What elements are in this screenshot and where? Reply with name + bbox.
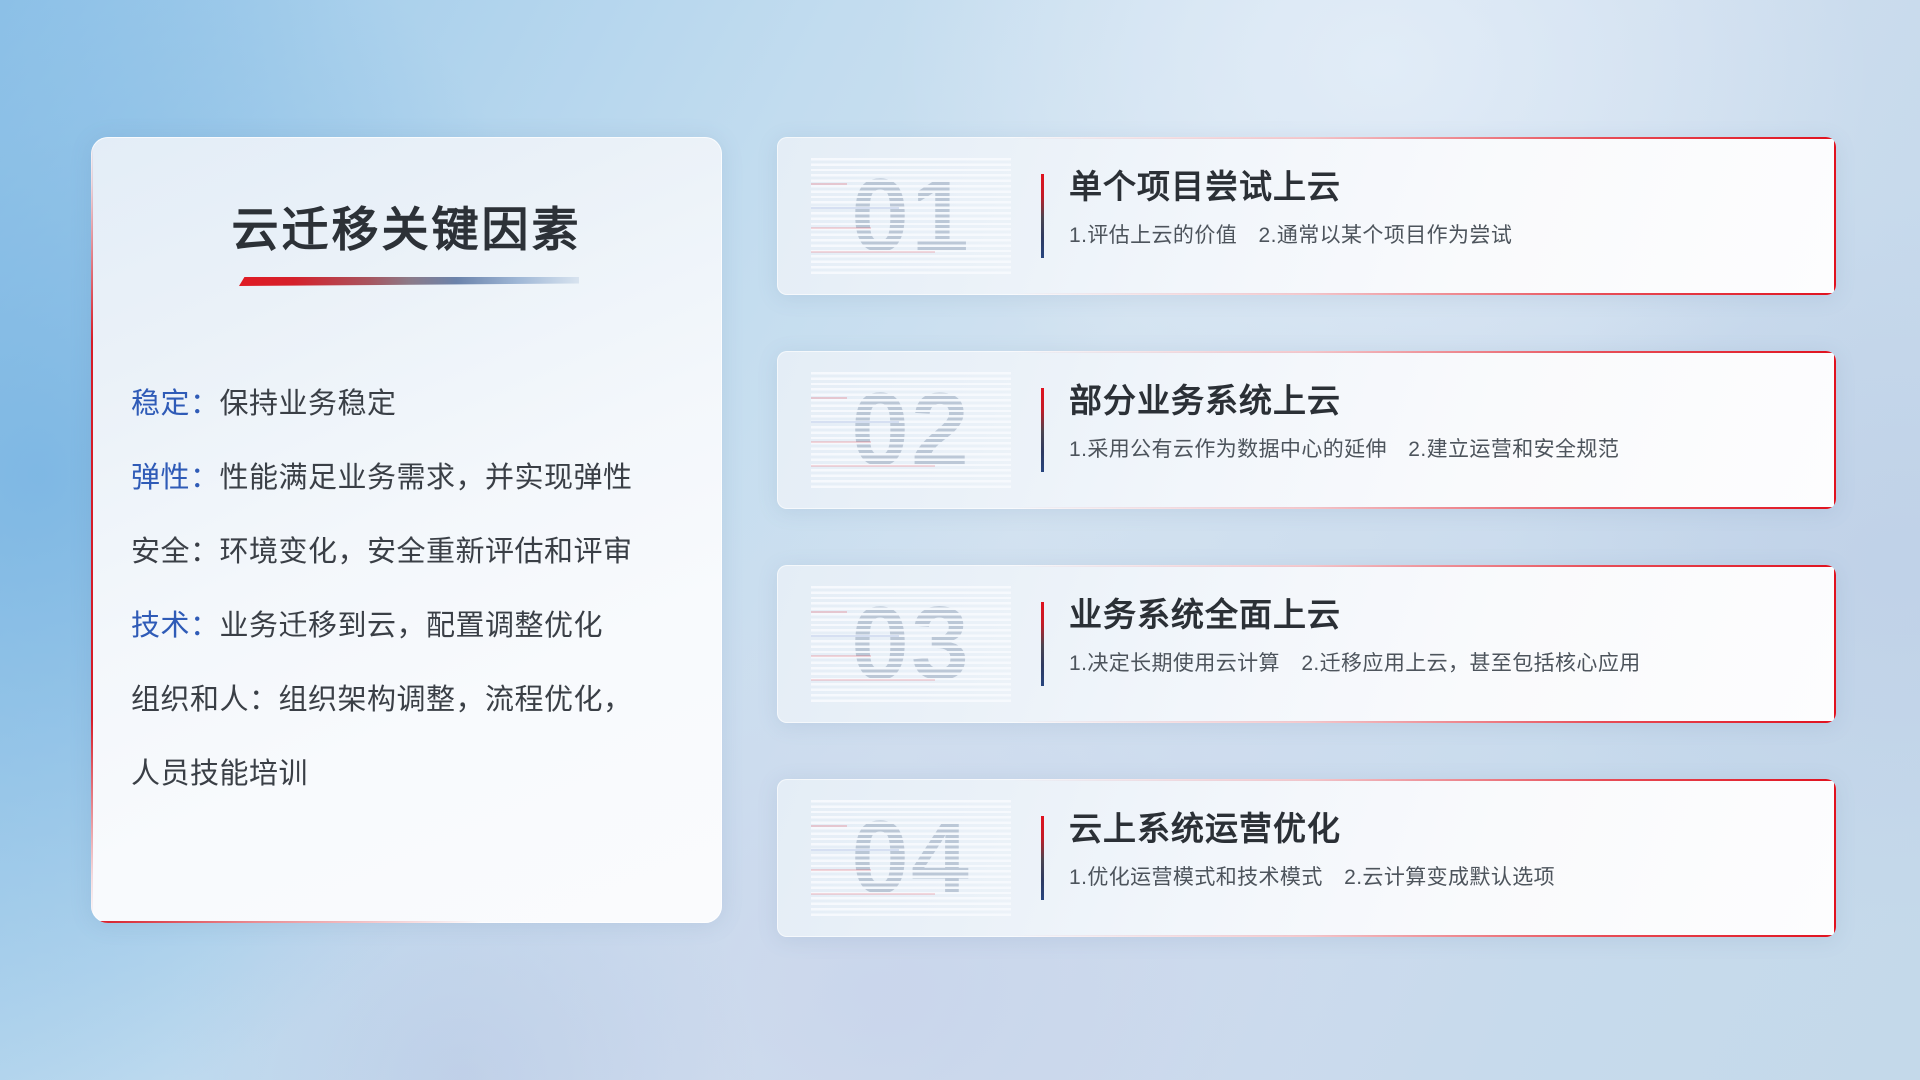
factor-text: 业务迁移到云，配置调整优化 bbox=[220, 610, 604, 642]
factor-label: 安全： bbox=[131, 536, 220, 568]
card-description: 1.采用公有云作为数据中心的延伸 2.建立运营和安全规范 bbox=[1069, 433, 1796, 467]
card-bottom-accent bbox=[777, 507, 1836, 509]
card-bottom-accent bbox=[777, 293, 1836, 295]
factor-row: 弹性：性能满足业务需求，并实现弹性 bbox=[131, 441, 700, 515]
factor-row: 稳定：保持业务稳定 bbox=[131, 367, 700, 441]
card-right-accent bbox=[1834, 565, 1836, 723]
card-bottom-accent bbox=[777, 721, 1836, 723]
card-description: 1.评估上云的价值 2.通常以某个项目作为尝试 bbox=[1069, 219, 1796, 253]
factor-row: 安全：环境变化，安全重新评估和评审 bbox=[131, 515, 700, 589]
step-number-watermark: 03 bbox=[811, 583, 1011, 705]
card-top-accent bbox=[777, 779, 1836, 781]
factor-text: 环境变化，安全重新评估和评审 bbox=[220, 536, 633, 568]
card-divider-bar bbox=[1041, 602, 1044, 686]
card-right-accent bbox=[1834, 779, 1836, 937]
factor-text: 性能满足业务需求，并实现弹性 bbox=[220, 462, 633, 494]
card-body: 单个项目尝试上云1.评估上云的价值 2.通常以某个项目作为尝试 bbox=[1069, 163, 1796, 253]
card-right-accent bbox=[1834, 137, 1836, 295]
card-top-accent bbox=[777, 351, 1836, 353]
page-title: 云迁移关键因素 bbox=[91, 191, 722, 260]
card-right-accent bbox=[1834, 351, 1836, 509]
factor-label: 稳定： bbox=[131, 388, 220, 420]
card-divider-bar bbox=[1041, 174, 1044, 258]
card-title: 云上系统运营优化 bbox=[1069, 805, 1796, 853]
factor-text: 人员技能培训 bbox=[131, 758, 308, 790]
factor-row: 技术：业务迁移到云，配置调整优化 bbox=[131, 589, 700, 663]
card-body: 业务系统全面上云1.决定长期使用云计算 2.迁移应用上云，甚至包括核心应用 bbox=[1069, 591, 1796, 681]
panel-bottom-accent-bar bbox=[91, 921, 722, 923]
card-description: 1.优化运营模式和技术模式 2.云计算变成默认选项 bbox=[1069, 861, 1796, 895]
step-number-watermark: 04 bbox=[811, 797, 1011, 919]
step-number-watermark: 01 bbox=[811, 155, 1011, 277]
factor-label: 技术： bbox=[131, 610, 220, 642]
step-card[interactable]: 02部分业务系统上云1.采用公有云作为数据中心的延伸 2.建立运营和安全规范 bbox=[777, 351, 1836, 509]
factor-row: 人员技能培训 bbox=[131, 737, 700, 811]
migration-steps-list: 01单个项目尝试上云1.评估上云的价值 2.通常以某个项目作为尝试02部分业务系… bbox=[777, 137, 1836, 937]
step-card[interactable]: 03业务系统全面上云1.决定长期使用云计算 2.迁移应用上云，甚至包括核心应用 bbox=[777, 565, 1836, 723]
card-top-accent bbox=[777, 137, 1836, 139]
card-description: 1.决定长期使用云计算 2.迁移应用上云，甚至包括核心应用 bbox=[1069, 647, 1796, 681]
factor-row: 组织和人：组织架构调整，流程优化， bbox=[131, 663, 700, 737]
card-title: 业务系统全面上云 bbox=[1069, 591, 1796, 639]
card-body: 部分业务系统上云1.采用公有云作为数据中心的延伸 2.建立运营和安全规范 bbox=[1069, 377, 1796, 467]
factor-label: 组织和人： bbox=[131, 684, 279, 716]
factor-text: 保持业务稳定 bbox=[220, 388, 397, 420]
factor-text: 组织架构调整，流程优化， bbox=[279, 684, 633, 716]
factor-label: 弹性： bbox=[131, 462, 220, 494]
card-title: 单个项目尝试上云 bbox=[1069, 163, 1796, 211]
card-bottom-accent bbox=[777, 935, 1836, 937]
title-underline-rule bbox=[239, 277, 579, 286]
card-divider-bar bbox=[1041, 816, 1044, 900]
card-body: 云上系统运营优化1.优化运营模式和技术模式 2.云计算变成默认选项 bbox=[1069, 805, 1796, 895]
key-factors-panel: 云迁移关键因素 稳定：保持业务稳定弹性：性能满足业务需求，并实现弹性安全：环境变… bbox=[91, 137, 722, 923]
factor-list: 稳定：保持业务稳定弹性：性能满足业务需求，并实现弹性安全：环境变化，安全重新评估… bbox=[131, 367, 700, 811]
step-number-watermark: 02 bbox=[811, 369, 1011, 491]
card-top-accent bbox=[777, 565, 1836, 567]
card-title: 部分业务系统上云 bbox=[1069, 377, 1796, 425]
step-card[interactable]: 01单个项目尝试上云1.评估上云的价值 2.通常以某个项目作为尝试 bbox=[777, 137, 1836, 295]
step-card[interactable]: 04云上系统运营优化1.优化运营模式和技术模式 2.云计算变成默认选项 bbox=[777, 779, 1836, 937]
card-divider-bar bbox=[1041, 388, 1044, 472]
